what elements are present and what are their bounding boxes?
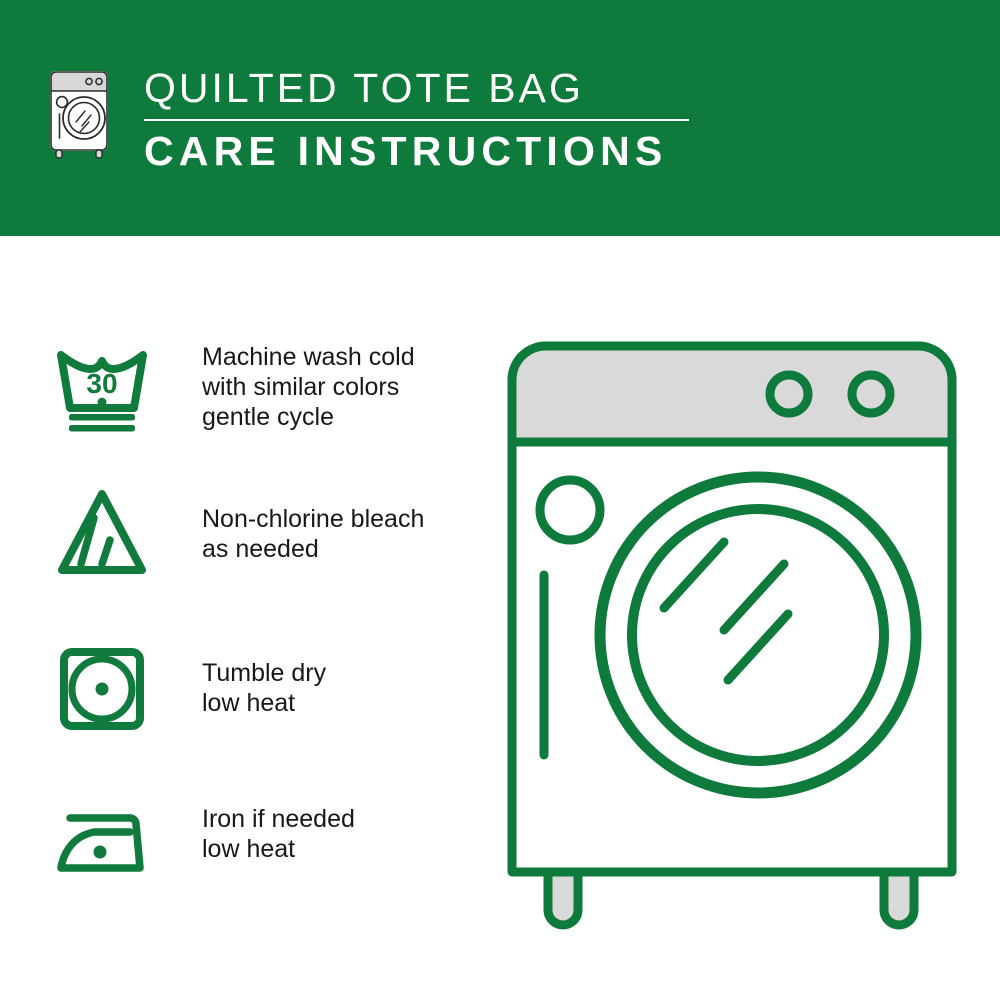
care-instruction-text: Non-chlorine bleach as needed: [202, 482, 424, 564]
non-chlorine-bleach-triangle-icon: [50, 482, 154, 586]
care-instruction-text: Tumble dry low heat: [202, 636, 326, 718]
machine-foot: [548, 872, 578, 925]
washing-machine-icon: [44, 64, 118, 164]
page-title: QUILTED TOTE BAG: [144, 64, 689, 112]
care-instruction-item: Tumble dry low heat: [0, 636, 500, 740]
wash-tub-30-gentle-icon: 30: [50, 336, 154, 440]
care-instruction-text: Machine wash cold with similar colors ge…: [202, 336, 415, 432]
machine-foot: [884, 872, 914, 925]
page-subtitle: CARE INSTRUCTIONS: [144, 127, 689, 175]
care-instruction-list: 30 Machine wash cold with similar colors…: [0, 236, 500, 1000]
care-instruction-text: Iron if needed low heat: [202, 786, 355, 864]
header-banner: QUILTED TOTE BAG CARE INSTRUCTIONS: [0, 0, 1000, 236]
title-divider: [144, 119, 689, 121]
front-load-washing-machine-illustration: [496, 330, 966, 940]
iron-low-heat-icon: [50, 786, 154, 890]
care-instruction-item: Non-chlorine bleach as needed: [0, 482, 500, 586]
header-title-block: QUILTED TOTE BAG CARE INSTRUCTIONS: [144, 64, 689, 175]
care-instruction-item: Iron if needed low heat: [0, 786, 500, 890]
care-instruction-item: 30 Machine wash cold with similar colors…: [0, 336, 500, 440]
header-content: QUILTED TOTE BAG CARE INSTRUCTIONS: [44, 64, 689, 175]
wash-temperature-label: 30: [86, 368, 117, 399]
tumble-dry-low-heat-icon: [50, 636, 154, 740]
